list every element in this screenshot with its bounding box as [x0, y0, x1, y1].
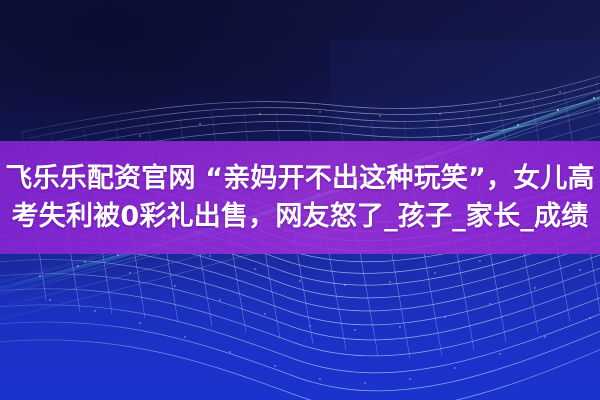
banner-image: 飞乐乐配资官网 “亲妈开不出这种玩笑”，女儿高 考失利被0彩礼出售，网友怒了_孩… [0, 0, 600, 400]
headline-text: 飞乐乐配资官网 “亲妈开不出这种玩笑”，女儿高 考失利被0彩礼出售，网友怒了_孩… [0, 141, 600, 254]
headline-line-2: 考失利被0彩礼出售，网友怒了_孩子_家长_成绩 [12, 200, 589, 234]
headline-line-1: 飞乐乐配资官网 “亲妈开不出这种玩笑”，女儿高 [5, 162, 595, 196]
